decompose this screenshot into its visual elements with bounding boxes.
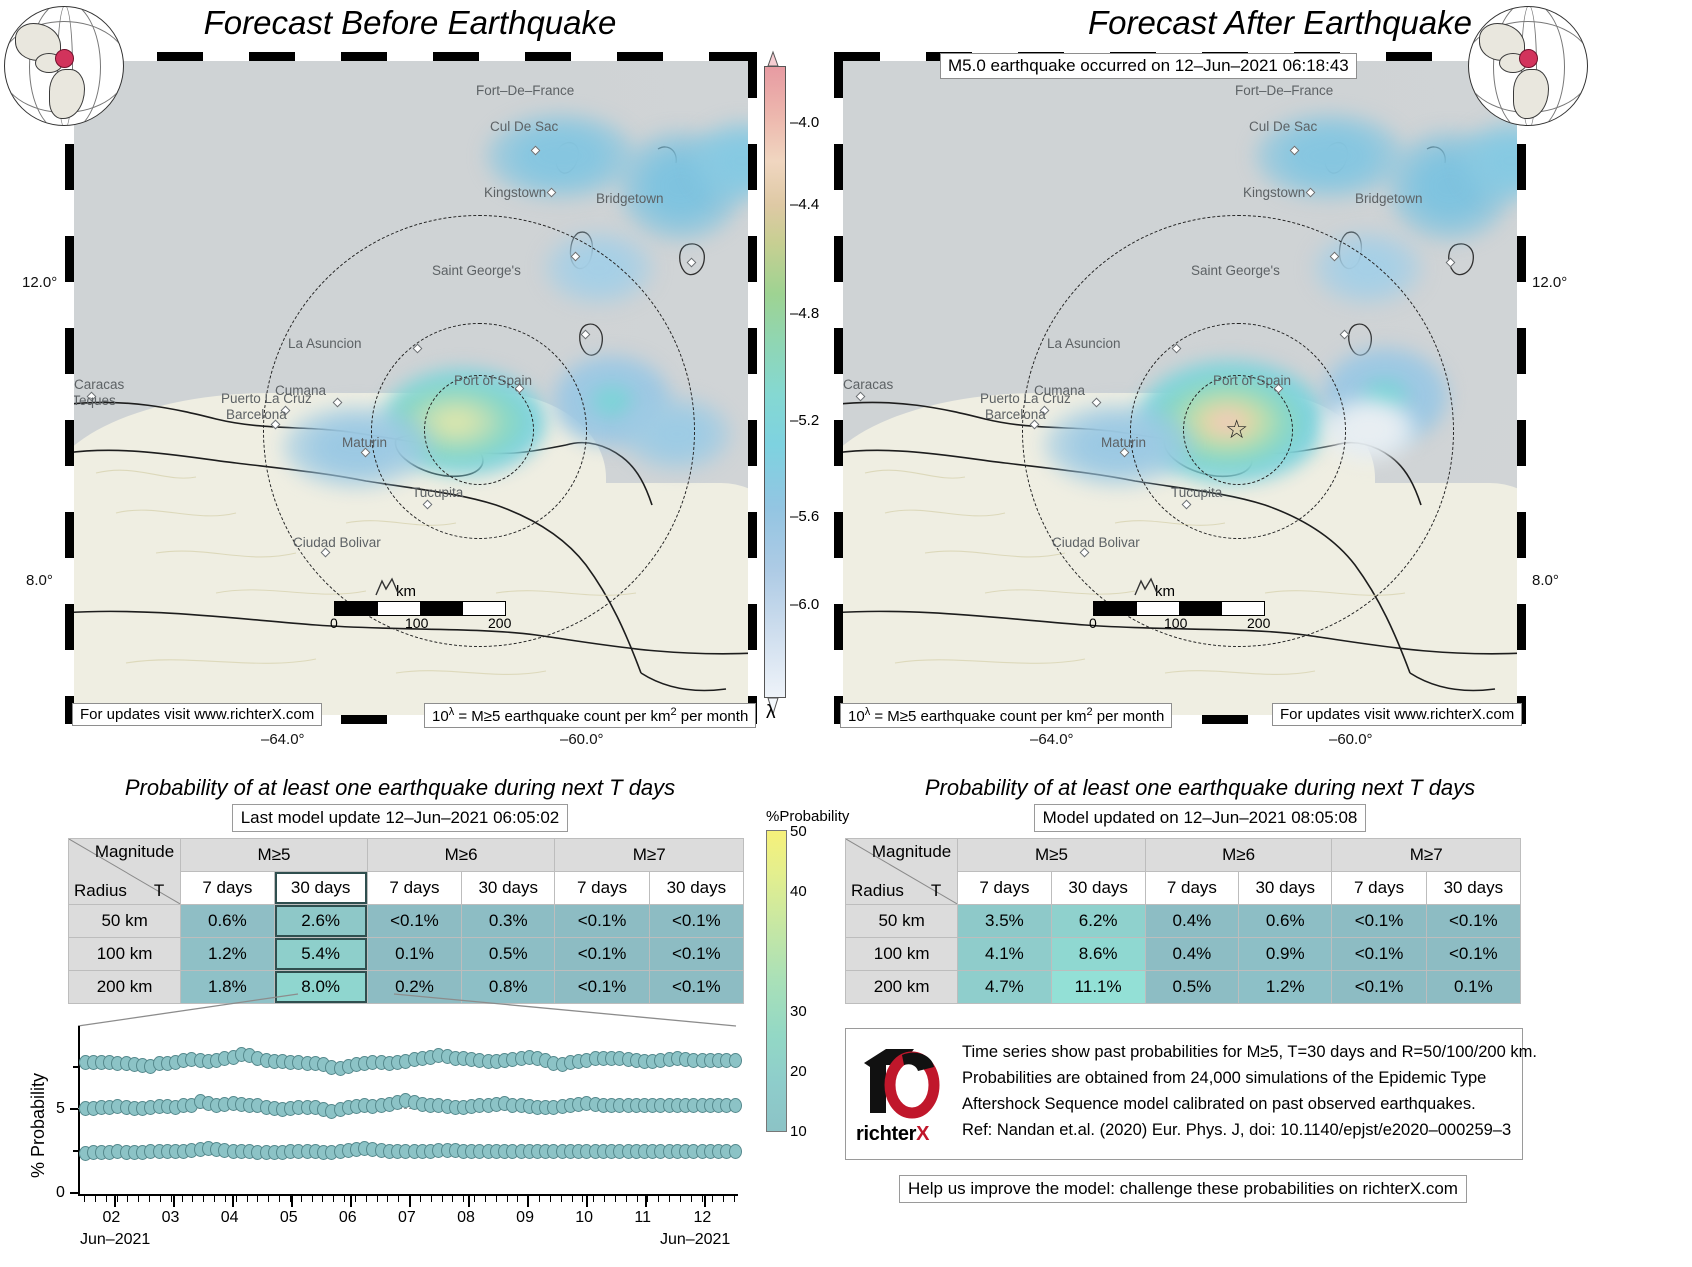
map-frame-right — [1517, 52, 1526, 724]
x-tick-label: 09 — [516, 1209, 534, 1227]
prob-cell: <0.1% — [555, 938, 649, 971]
lambda-tick: –5.2 — [790, 412, 819, 429]
x-axis-right-label: Jun–2021 — [660, 1231, 730, 1249]
x-minor-tick — [452, 1196, 453, 1202]
prob-cell: <0.1% — [1426, 938, 1520, 971]
prob-cell: 11.1% — [1051, 971, 1145, 1004]
map-frame-left — [65, 52, 74, 724]
brand-name: richterX — [856, 1123, 929, 1146]
city-label: Cul De Sac — [1249, 119, 1317, 134]
prob-cell: 0.9% — [1239, 938, 1332, 971]
corner-magnitude-label: Magnitude — [95, 842, 174, 862]
prob-cell: 2.6% — [274, 905, 367, 938]
probability-table-before[interactable]: Magnitude Radius T M≥5 M≥6 M≥7 7 days 30… — [68, 838, 744, 1004]
city-label: Tucupita — [412, 485, 463, 500]
x-minor-tick — [647, 1196, 648, 1202]
globe-location-pin — [1519, 49, 1538, 68]
city-label: Saint George's — [432, 263, 521, 278]
x-minor-tick — [398, 1196, 399, 1202]
lat-tick-label: 12.0° — [1532, 274, 1567, 291]
city-label: Tucupita — [1171, 485, 1222, 500]
table-row: 50 km 0.6% 2.6% <0.1% 0.3% <0.1% <0.1% — [69, 905, 744, 938]
duration-header: 7 days — [555, 872, 649, 905]
prob-cell: 0.3% — [462, 905, 555, 938]
x-minor-tick — [680, 1196, 681, 1202]
map-canvas-before: Fort–De–France Cul De Sac Kingstown Brid… — [65, 52, 757, 724]
prob-cell: 0.1% — [367, 938, 461, 971]
prob-cell: 0.4% — [1145, 905, 1238, 938]
x-minor-tick — [702, 1196, 703, 1202]
lambda-tick: –5.6 — [790, 508, 819, 525]
x-minor-tick — [626, 1196, 627, 1202]
city-label: Fort–De–France — [476, 83, 574, 98]
x-minor-tick — [496, 1196, 497, 1202]
lambda-tick: –4.0 — [790, 114, 819, 131]
city-label: La Asuncion — [288, 336, 362, 351]
prob-colorbar-tick: 30 — [790, 1003, 807, 1020]
x-minor-tick — [539, 1196, 540, 1202]
x-minor-tick — [637, 1196, 638, 1202]
table-row: 50 km 3.5% 6.2% 0.4% 0.6% <0.1% <0.1% — [846, 905, 1521, 938]
corner-magnitude-label: Magnitude — [872, 842, 951, 862]
city-label: Puerto La Cruz — [980, 391, 1071, 406]
table-row: 200 km 4.7% 11.1% 0.5% 1.2% <0.1% 0.1% — [846, 971, 1521, 1004]
city-label: Barcelona — [226, 407, 287, 422]
scalebar-tick: 200 — [488, 615, 511, 631]
brand-accent: X — [916, 1123, 929, 1145]
x-tick-label: 02 — [103, 1209, 121, 1227]
lambda-axis-label: λ — [766, 702, 776, 724]
city-label: Port of Spain — [1213, 373, 1291, 388]
lat-tick-label: 8.0° — [1532, 572, 1559, 589]
prob-cell: 1.2% — [1239, 971, 1332, 1004]
x-minor-tick — [192, 1196, 193, 1202]
prob-cell: 0.6% — [1239, 905, 1332, 938]
probability-table-after[interactable]: Magnitude Radius T M≥5 M≥6 M≥7 7 days 30… — [845, 838, 1521, 1004]
x-major-tick — [350, 1196, 352, 1207]
prob-cell: <0.1% — [1332, 938, 1426, 971]
x-minor-tick — [593, 1196, 594, 1202]
prob-cell: 0.6% — [181, 905, 274, 938]
x-minor-tick — [257, 1196, 258, 1202]
city-label: Ciudad Bolivar — [1052, 535, 1140, 550]
magnitude-header: M≥7 — [1332, 839, 1521, 872]
magnitude-header: M≥5 — [958, 839, 1145, 872]
x-minor-tick — [160, 1196, 161, 1202]
x-minor-tick — [442, 1196, 443, 1202]
x-minor-tick — [312, 1196, 313, 1202]
radius-circle-200km — [263, 215, 695, 647]
city-label: Caracas — [843, 377, 893, 392]
table-corner-cell: Magnitude Radius T — [69, 839, 181, 905]
x-minor-tick — [203, 1196, 204, 1202]
x-major-tick — [586, 1196, 588, 1207]
radius-label: 100 km — [69, 938, 181, 971]
city-label: Puerto La Cruz — [221, 391, 312, 406]
lon-tick-label: –64.0° — [1030, 731, 1074, 748]
x-tick-label: 03 — [162, 1209, 180, 1227]
prob-cell: 0.4% — [1145, 938, 1238, 971]
lat-tick-label: 12.0° — [22, 274, 57, 291]
x-minor-tick — [712, 1196, 713, 1202]
x-tick-label: 04 — [221, 1209, 239, 1227]
info-line-2: Probabilities are obtained from 24,000 s… — [962, 1065, 1486, 1091]
updates-annotation-before[interactable]: For updates visit www.richterX.com — [72, 703, 322, 726]
brand-text: richter — [856, 1123, 916, 1145]
x-minor-tick — [138, 1196, 139, 1202]
map-scalebar-before: km 0 100 200 — [334, 601, 506, 616]
prob-cell: <0.1% — [649, 938, 743, 971]
table-row: 100 km 4.1% 8.6% 0.4% 0.9% <0.1% <0.1% — [846, 938, 1521, 971]
prob-cell: <0.1% — [367, 905, 461, 938]
x-minor-tick — [582, 1196, 583, 1202]
richterx-logo-icon — [856, 1041, 948, 1121]
prob-cell: <0.1% — [649, 905, 743, 938]
duration-header: 7 days — [1332, 872, 1426, 905]
map-canvas-after: ☆ Fort–De–France Cul De Sac Kingstown Br… — [834, 52, 1526, 724]
map-frame-left — [834, 52, 843, 724]
model-info-box: richterX Time series show past probabili… — [845, 1028, 1523, 1160]
x-minor-tick — [387, 1196, 388, 1202]
globe-inset-before — [4, 6, 124, 126]
duration-header: 30 days — [649, 872, 743, 905]
prob-colorbar-tick: 20 — [790, 1063, 807, 1080]
lon-tick-label: –64.0° — [261, 731, 305, 748]
city-label: Bridgetown — [1355, 191, 1423, 206]
x-tick-label: 06 — [339, 1209, 357, 1227]
x-minor-tick — [658, 1196, 659, 1202]
duration-header: 7 days — [1145, 872, 1238, 905]
x-minor-tick — [106, 1196, 107, 1202]
x-minor-tick — [290, 1196, 291, 1202]
scalebar-tick: 100 — [405, 615, 428, 631]
scalebar-tick: 200 — [1247, 615, 1270, 631]
duration-header: 7 days — [958, 872, 1051, 905]
corner-radius-label: Radius — [74, 881, 127, 901]
x-major-tick — [704, 1196, 706, 1207]
map-frame-right — [748, 52, 757, 724]
x-minor-tick — [171, 1196, 172, 1202]
lambda-tick: –4.8 — [790, 305, 819, 322]
x-minor-tick — [420, 1196, 421, 1202]
duration-header: 7 days — [181, 872, 274, 905]
corner-t-label: T — [931, 881, 941, 901]
city-label: Kingstown — [1243, 185, 1305, 200]
x-minor-tick — [604, 1196, 605, 1202]
table-title-before: Probability of at least one earthquake d… — [40, 775, 760, 801]
x-minor-tick — [333, 1196, 334, 1202]
x-tick-label: 10 — [575, 1209, 593, 1227]
table-corner-cell: Magnitude Radius T — [846, 839, 958, 905]
prob-colorbar-tick: 50 — [790, 823, 807, 840]
prob-colorbar-tick: 40 — [790, 883, 807, 900]
x-major-tick — [173, 1196, 175, 1207]
scalebar-tick: 0 — [330, 615, 338, 631]
city-label: Maturin — [342, 435, 387, 450]
duration-header: 7 days — [367, 872, 461, 905]
x-minor-tick — [615, 1196, 616, 1202]
city-label: Caracas — [74, 377, 124, 392]
prob-cell: <0.1% — [1332, 971, 1426, 1004]
x-minor-tick — [507, 1196, 508, 1202]
prob-colorbar-tick: 10 — [790, 1123, 807, 1140]
scalebar-tick: 100 — [1164, 615, 1187, 631]
map-scalebar-after: km 0 100 200 — [1093, 601, 1265, 616]
city-label: Maturin — [1101, 435, 1146, 450]
info-line-4: Ref: Nandan et.al. (2020) Eur. Phys. J, … — [962, 1117, 1511, 1143]
city-label: Kingstown — [484, 185, 546, 200]
lambda-annotation-after: 10λ = M≥5 earthquake count per km2 per m… — [840, 703, 1172, 728]
table-title-after: Probability of at least one earthquake d… — [820, 775, 1580, 801]
corner-t-label: T — [154, 881, 164, 901]
x-minor-tick — [322, 1196, 323, 1202]
x-minor-tick — [214, 1196, 215, 1202]
lambda-annotation-before: 10λ = M≥5 earthquake count per km2 per m… — [424, 703, 756, 728]
x-minor-tick — [550, 1196, 551, 1202]
radius-label: 200 km — [846, 971, 958, 1004]
city-label: Cul De Sac — [490, 119, 558, 134]
x-minor-tick — [301, 1196, 302, 1202]
x-minor-tick — [236, 1196, 237, 1202]
x-minor-tick — [474, 1196, 475, 1202]
duration-header: 30 days — [1426, 872, 1520, 905]
city-label: Saint George's — [1191, 263, 1280, 278]
prob-cell: 5.4% — [274, 938, 367, 971]
x-axis-left-label: Jun–2021 — [80, 1231, 150, 1249]
prob-cell: 0.1% — [1426, 971, 1520, 1004]
lambda-tick: –6.0 — [790, 596, 819, 613]
duration-header: 30 days — [1051, 872, 1145, 905]
x-tick-label: 08 — [457, 1209, 475, 1227]
x-minor-tick — [528, 1196, 529, 1202]
x-minor-tick — [431, 1196, 432, 1202]
table-row: 100 km 1.2% 5.4% 0.1% 0.5% <0.1% <0.1% — [69, 938, 744, 971]
city-label: Barcelona — [985, 407, 1046, 422]
x-minor-tick — [723, 1196, 724, 1202]
map-frame-top — [65, 52, 757, 61]
x-minor-tick — [561, 1196, 562, 1202]
radius-label: 50 km — [69, 905, 181, 938]
x-minor-tick — [127, 1196, 128, 1202]
prob-cell: <0.1% — [1332, 905, 1426, 938]
city-label: La Asuncion — [1047, 336, 1121, 351]
x-minor-tick — [572, 1196, 573, 1202]
globe-location-pin — [55, 49, 74, 68]
x-minor-tick — [463, 1196, 464, 1202]
x-major-tick — [291, 1196, 293, 1207]
x-tick-label: 11 — [634, 1209, 651, 1227]
city-label: Fort–De–France — [1235, 83, 1333, 98]
event-banner: M5.0 earthquake occurred on 12–Jun–2021 … — [940, 53, 1357, 79]
map-before[interactable]: Fort–De–France Cul De Sac Kingstown Brid… — [65, 52, 757, 724]
lambda-tick: –4.4 — [790, 196, 819, 213]
prob-cell: <0.1% — [1426, 905, 1520, 938]
magnitude-header: M≥6 — [367, 839, 555, 872]
city-label: Ciudad Bolivar — [293, 535, 381, 550]
map-after[interactable]: ☆ Fort–De–France Cul De Sac Kingstown Br… — [834, 52, 1526, 724]
prob-cell: 8.6% — [1051, 938, 1145, 971]
lat-tick-label: 8.0° — [26, 572, 53, 589]
x-minor-tick — [517, 1196, 518, 1202]
epicenter-star-icon: ☆ — [1225, 416, 1248, 442]
x-tick-label: 05 — [280, 1209, 298, 1227]
x-minor-tick — [734, 1196, 735, 1202]
radius-label: 50 km — [846, 905, 958, 938]
x-minor-tick — [279, 1196, 280, 1202]
x-minor-tick — [355, 1196, 356, 1202]
table-subtitle-after: Model updated on 12–Jun–2021 08:05:08 — [1034, 804, 1367, 832]
info-line-3: Aftershock Sequence model calibrated on … — [962, 1091, 1476, 1117]
x-major-tick — [114, 1196, 116, 1207]
footer-cta[interactable]: Help us improve the model: challenge the… — [899, 1175, 1467, 1203]
colorbar-end-caps — [760, 50, 788, 770]
x-minor-tick — [691, 1196, 692, 1202]
x-minor-tick — [268, 1196, 269, 1202]
table-subtitle-before: Last model update 12–Jun–2021 06:05:02 — [232, 804, 569, 832]
x-minor-tick — [409, 1196, 410, 1202]
x-tick-label: 07 — [398, 1209, 416, 1227]
x-minor-tick — [84, 1196, 85, 1202]
x-minor-tick — [149, 1196, 150, 1202]
magnitude-header: M≥7 — [555, 839, 744, 872]
x-minor-tick — [225, 1196, 226, 1202]
timeseries-chart[interactable]: % Probability 0 5 0203040506070809101112… — [20, 1018, 760, 1248]
updates-annotation-after[interactable]: For updates visit www.richterX.com — [1272, 703, 1522, 726]
duration-header: 30 days — [1239, 872, 1332, 905]
prob-cell: 0.5% — [462, 938, 555, 971]
prob-cell: 3.5% — [958, 905, 1051, 938]
x-tick-label: 12 — [693, 1209, 711, 1227]
x-minor-tick — [95, 1196, 96, 1202]
x-minor-tick — [366, 1196, 367, 1202]
magnitude-header: M≥6 — [1145, 839, 1332, 872]
duration-header: 30 days — [274, 872, 367, 905]
city-label: Port of Spain — [454, 373, 532, 388]
globe-inset-after — [1468, 6, 1588, 126]
city-label: Bridgetown — [596, 191, 664, 206]
prob-cell: 4.7% — [958, 971, 1051, 1004]
x-minor-tick — [182, 1196, 183, 1202]
x-minor-tick — [247, 1196, 248, 1202]
x-minor-tick — [377, 1196, 378, 1202]
x-major-tick — [468, 1196, 470, 1207]
panel-title-before: Forecast Before Earthquake — [60, 4, 760, 42]
radius-label: 100 km — [846, 938, 958, 971]
x-minor-tick — [344, 1196, 345, 1202]
prob-cell: 1.2% — [181, 938, 274, 971]
prob-cell: <0.1% — [555, 905, 649, 938]
timeseries-xticks: 0203040506070809101112 — [20, 1018, 760, 1228]
probability-colorbar-title: %Probability — [766, 808, 849, 825]
lon-tick-label: –60.0° — [560, 731, 604, 748]
x-minor-tick — [485, 1196, 486, 1202]
corner-radius-label: Radius — [851, 881, 904, 901]
info-line-1: Time series show past probabilities for … — [962, 1039, 1537, 1065]
x-major-tick — [232, 1196, 234, 1207]
x-minor-tick — [117, 1196, 118, 1202]
probability-colorbar — [766, 830, 787, 1132]
prob-cell: 0.5% — [1145, 971, 1238, 1004]
scalebar-tick: 0 — [1089, 615, 1097, 631]
lon-tick-label: –60.0° — [1329, 731, 1373, 748]
prob-cell: 4.1% — [958, 938, 1051, 971]
prob-cell: 6.2% — [1051, 905, 1145, 938]
magnitude-header: M≥5 — [181, 839, 368, 872]
duration-header: 30 days — [462, 872, 555, 905]
x-minor-tick — [669, 1196, 670, 1202]
